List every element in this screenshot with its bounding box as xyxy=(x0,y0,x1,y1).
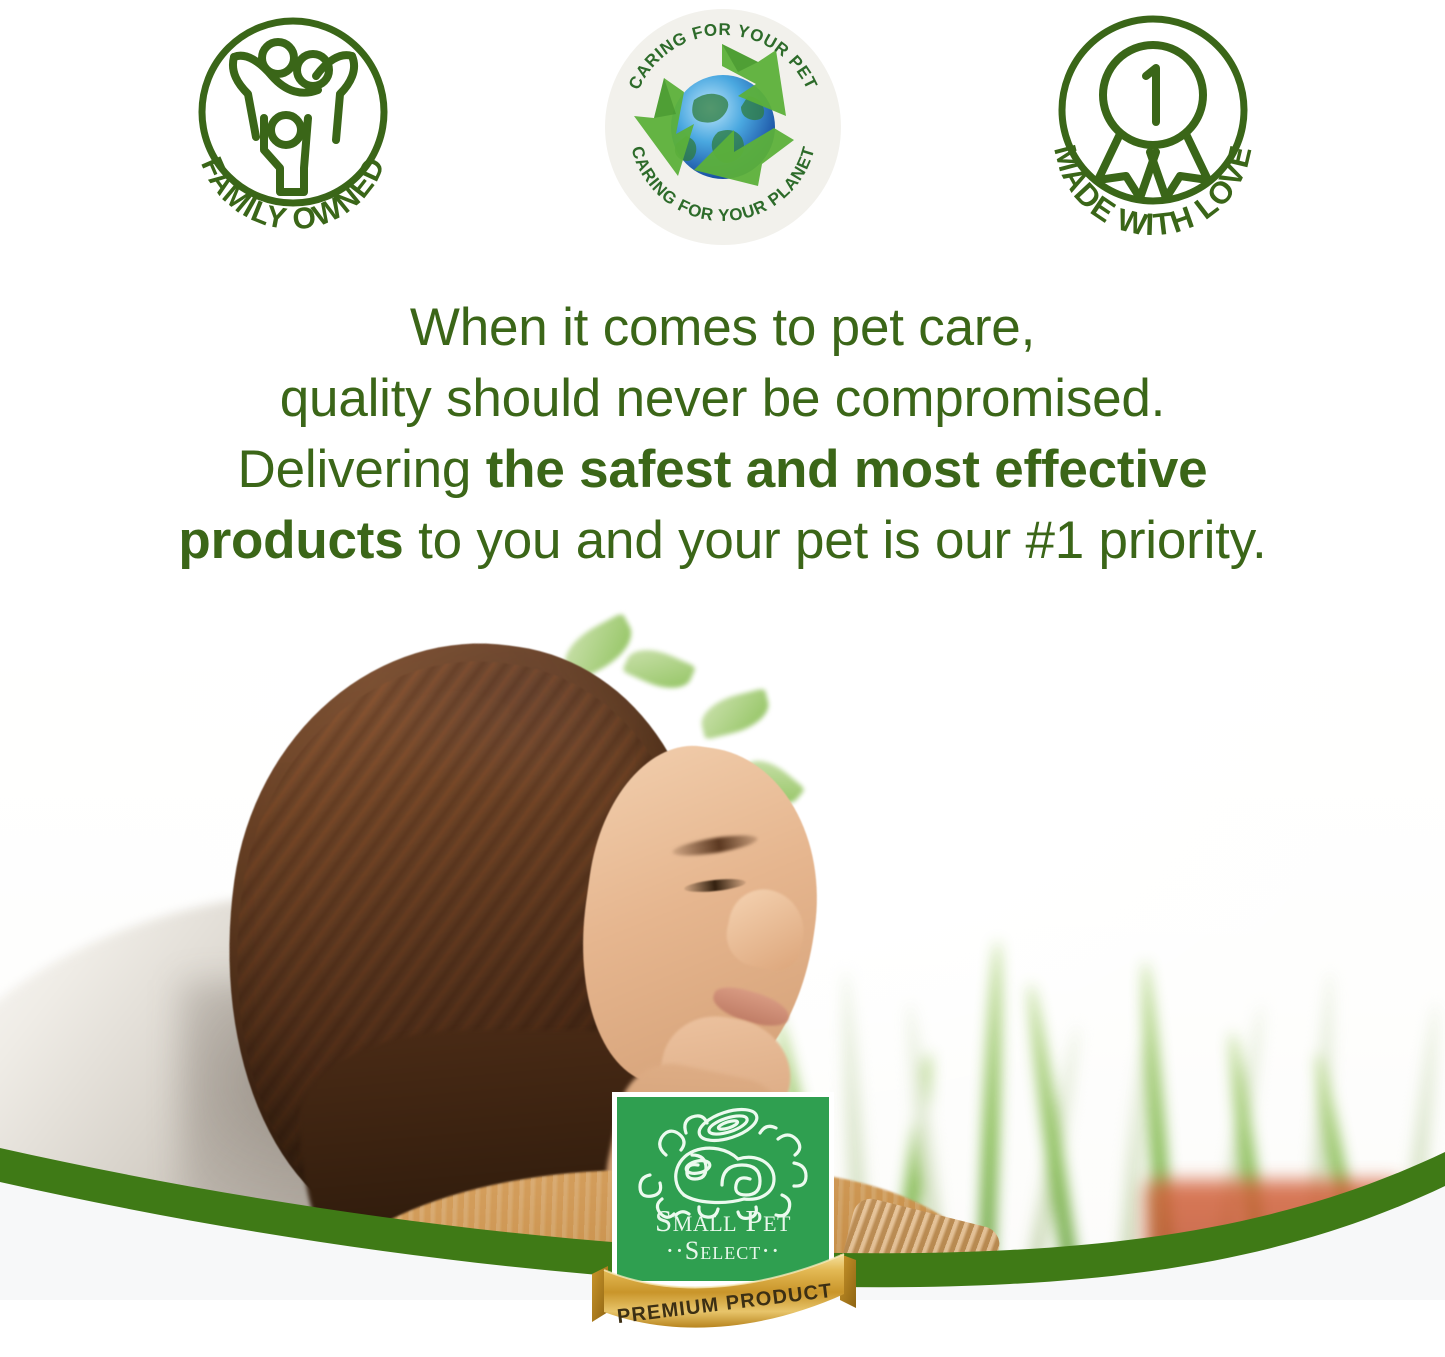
badge-made-with-love: MADE WITH LOVE xyxy=(1028,0,1278,255)
headline-line-4: products to you and your pet is our #1 p… xyxy=(40,505,1405,576)
badge-family-owned: FAMILY OWNED xyxy=(168,0,418,255)
headline-line-4-regular: to you and your pet is our #1 priority. xyxy=(404,511,1267,570)
headline-line-1: When it comes to pet care, xyxy=(40,292,1405,363)
brand-logo-badge: Small Pet ··Select·· xyxy=(612,1092,834,1357)
logo-line-1: Small Pet xyxy=(617,1205,829,1237)
premium-product-ribbon: PREMIUM PRODUCT xyxy=(590,1252,858,1342)
promo-graphic: FAMILY OWNED xyxy=(0,0,1445,1357)
headline-line-3-regular: Delivering xyxy=(238,440,486,499)
trust-badge-row: FAMILY OWNED xyxy=(0,0,1445,270)
headline-line-3-bold: the safest and most effective xyxy=(486,440,1208,499)
headline-line-4-bold: products xyxy=(178,511,403,570)
headline-line-3: Delivering the safest and most effective xyxy=(40,434,1405,505)
headline: When it comes to pet care, quality shoul… xyxy=(0,292,1445,576)
badge-caring-recycle: CARING FOR YOUR PET CARING FOR YOUR PLAN… xyxy=(598,0,848,255)
headline-line-2: quality should never be compromised. xyxy=(40,363,1405,434)
